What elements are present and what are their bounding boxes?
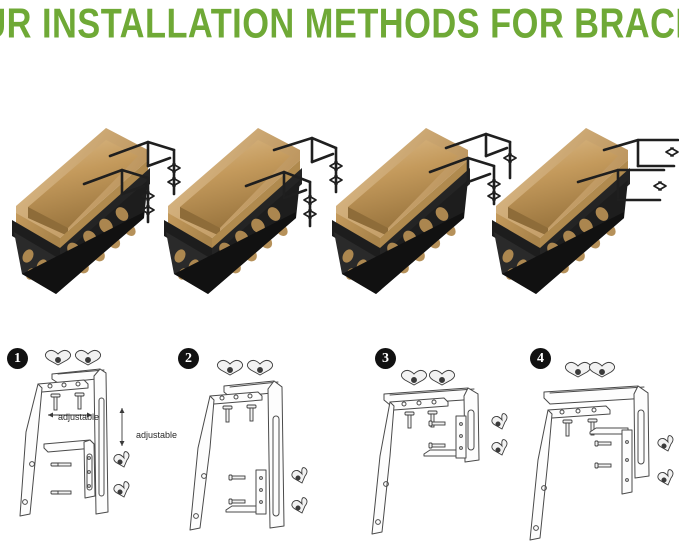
diagram-panel-1: 1: [0, 336, 176, 555]
adjustable-width-label: adjustable: [58, 412, 99, 422]
installation-photo-row: [0, 108, 679, 308]
adjustable-depth-arrow: [120, 408, 125, 446]
diagram-panel-2: 2: [170, 336, 338, 555]
diagram-panel-4: 4: [512, 336, 679, 555]
bolt-icon: [51, 393, 84, 410]
wing-nut-icon: [45, 350, 100, 365]
wing-nut-icon: [565, 362, 614, 377]
planter-box-method-4: [478, 108, 678, 308]
diagram-panel-3: 3: [366, 336, 516, 555]
bolt-icon: [223, 405, 256, 422]
wing-nut-icon: [401, 370, 454, 385]
page-title: FOUR INSTALLATION METHODS FOR BRACKET: [0, 2, 679, 47]
step-badge-2: 2: [178, 348, 199, 369]
assembly-diagram-row: 1: [0, 336, 679, 555]
wing-nut-icon: [217, 360, 272, 375]
step-badge-3: 3: [375, 348, 396, 369]
title-bar: FOUR INSTALLATION METHODS FOR BRACKET: [0, 2, 679, 46]
infographic-page: FOUR INSTALLATION METHODS FOR BRACKET: [0, 0, 679, 555]
adjustable-depth-label: adjustable: [136, 430, 177, 440]
step-badge-4: 4: [530, 348, 551, 369]
step-badge-1: 1: [7, 348, 28, 369]
